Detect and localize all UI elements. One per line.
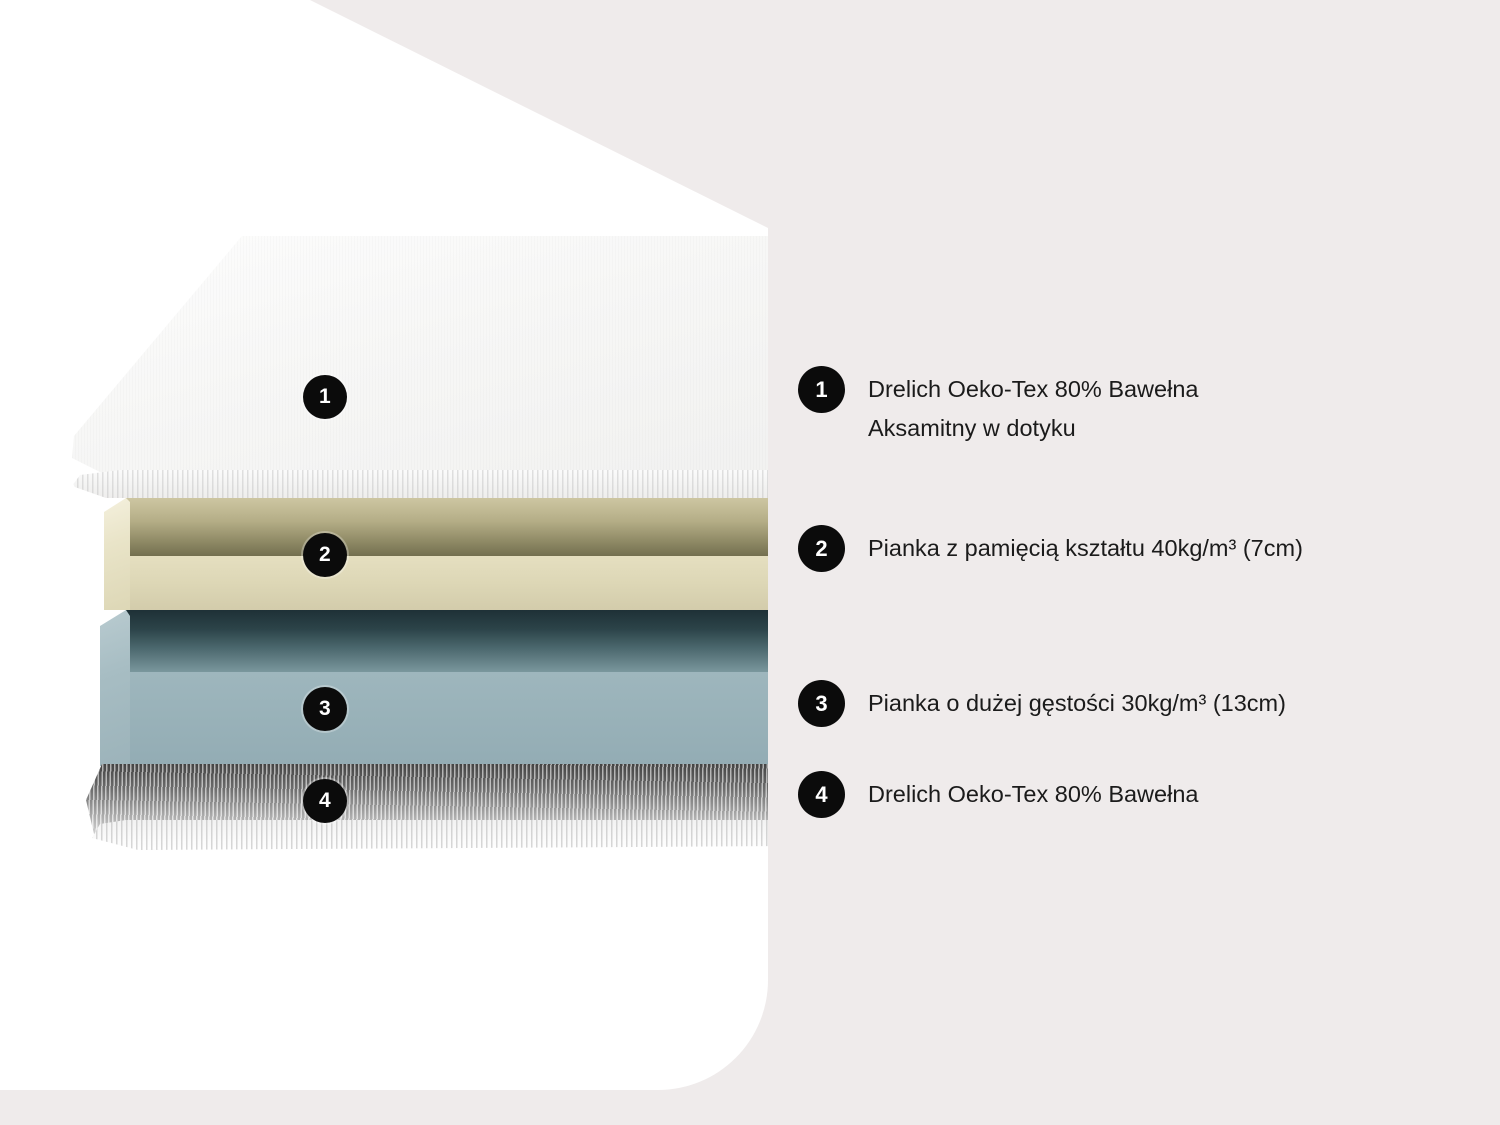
mattress-layer-4-base-hem [86,820,768,852]
legend-text-1-line2: Aksamitny w dotyku [868,409,1198,448]
legend-list: 1 Drelich Oeko-Tex 80% Bawełna Aksamitny… [798,0,1458,1125]
mattress-badge-2: 2 [303,533,347,577]
legend-text-1-line1: Drelich Oeko-Tex 80% Bawełna [868,376,1198,402]
legend-text-4: Drelich Oeko-Tex 80% Bawełna [868,771,1198,814]
legend-text-3-line1: Pianka o dużej gęstości 30kg/m³ (13cm) [868,690,1286,716]
mattress-layer-3-density-foam-side [100,610,130,766]
mattress-layer-2-memory-foam-top [104,498,768,558]
mattress-badge-1: 1 [303,375,347,419]
legend-badge-4: 4 [798,771,845,818]
legend-badge-2: 2 [798,525,845,572]
legend-badge-1: 1 [798,366,845,413]
legend-item-4: 4 Drelich Oeko-Tex 80% Bawełna [798,771,1198,818]
mattress-layers-infographic: 1 2 3 4 1 Drelich Oeko-Tex 80% Bawełna A… [0,0,1500,1125]
mattress-badge-3: 3 [303,687,347,731]
legend-badge-3: 3 [798,680,845,727]
legend-text-2: Pianka z pamięcią kształtu 40kg/m³ (7cm) [868,525,1303,568]
mattress-layer-3-density-foam-top [100,610,768,674]
mattress-badge-4: 4 [303,779,347,823]
mattress-illustration: 1 2 3 4 [0,0,768,1125]
mattress-layer-2-memory-foam-front [104,556,768,610]
legend-text-1: Drelich Oeko-Tex 80% Bawełna Aksamitny w… [868,366,1198,448]
legend-text-3: Pianka o dużej gęstości 30kg/m³ (13cm) [868,680,1286,723]
legend-item-3: 3 Pianka o dużej gęstości 30kg/m³ (13cm) [798,680,1286,727]
legend-text-4-line1: Drelich Oeko-Tex 80% Bawełna [868,781,1198,807]
legend-item-1: 1 Drelich Oeko-Tex 80% Bawełna Aksamitny… [798,366,1198,448]
legend-text-2-line1: Pianka z pamięcią kształtu 40kg/m³ (7cm) [868,535,1303,561]
mattress-layer-1-cover-top [72,236,768,484]
mattress-layer-1-cover-edge [72,470,768,500]
mattress-layer-3-density-foam-front [100,672,768,766]
legend-item-2: 2 Pianka z pamięcią kształtu 40kg/m³ (7c… [798,525,1303,572]
mattress-layer-2-memory-foam-side [104,498,130,610]
